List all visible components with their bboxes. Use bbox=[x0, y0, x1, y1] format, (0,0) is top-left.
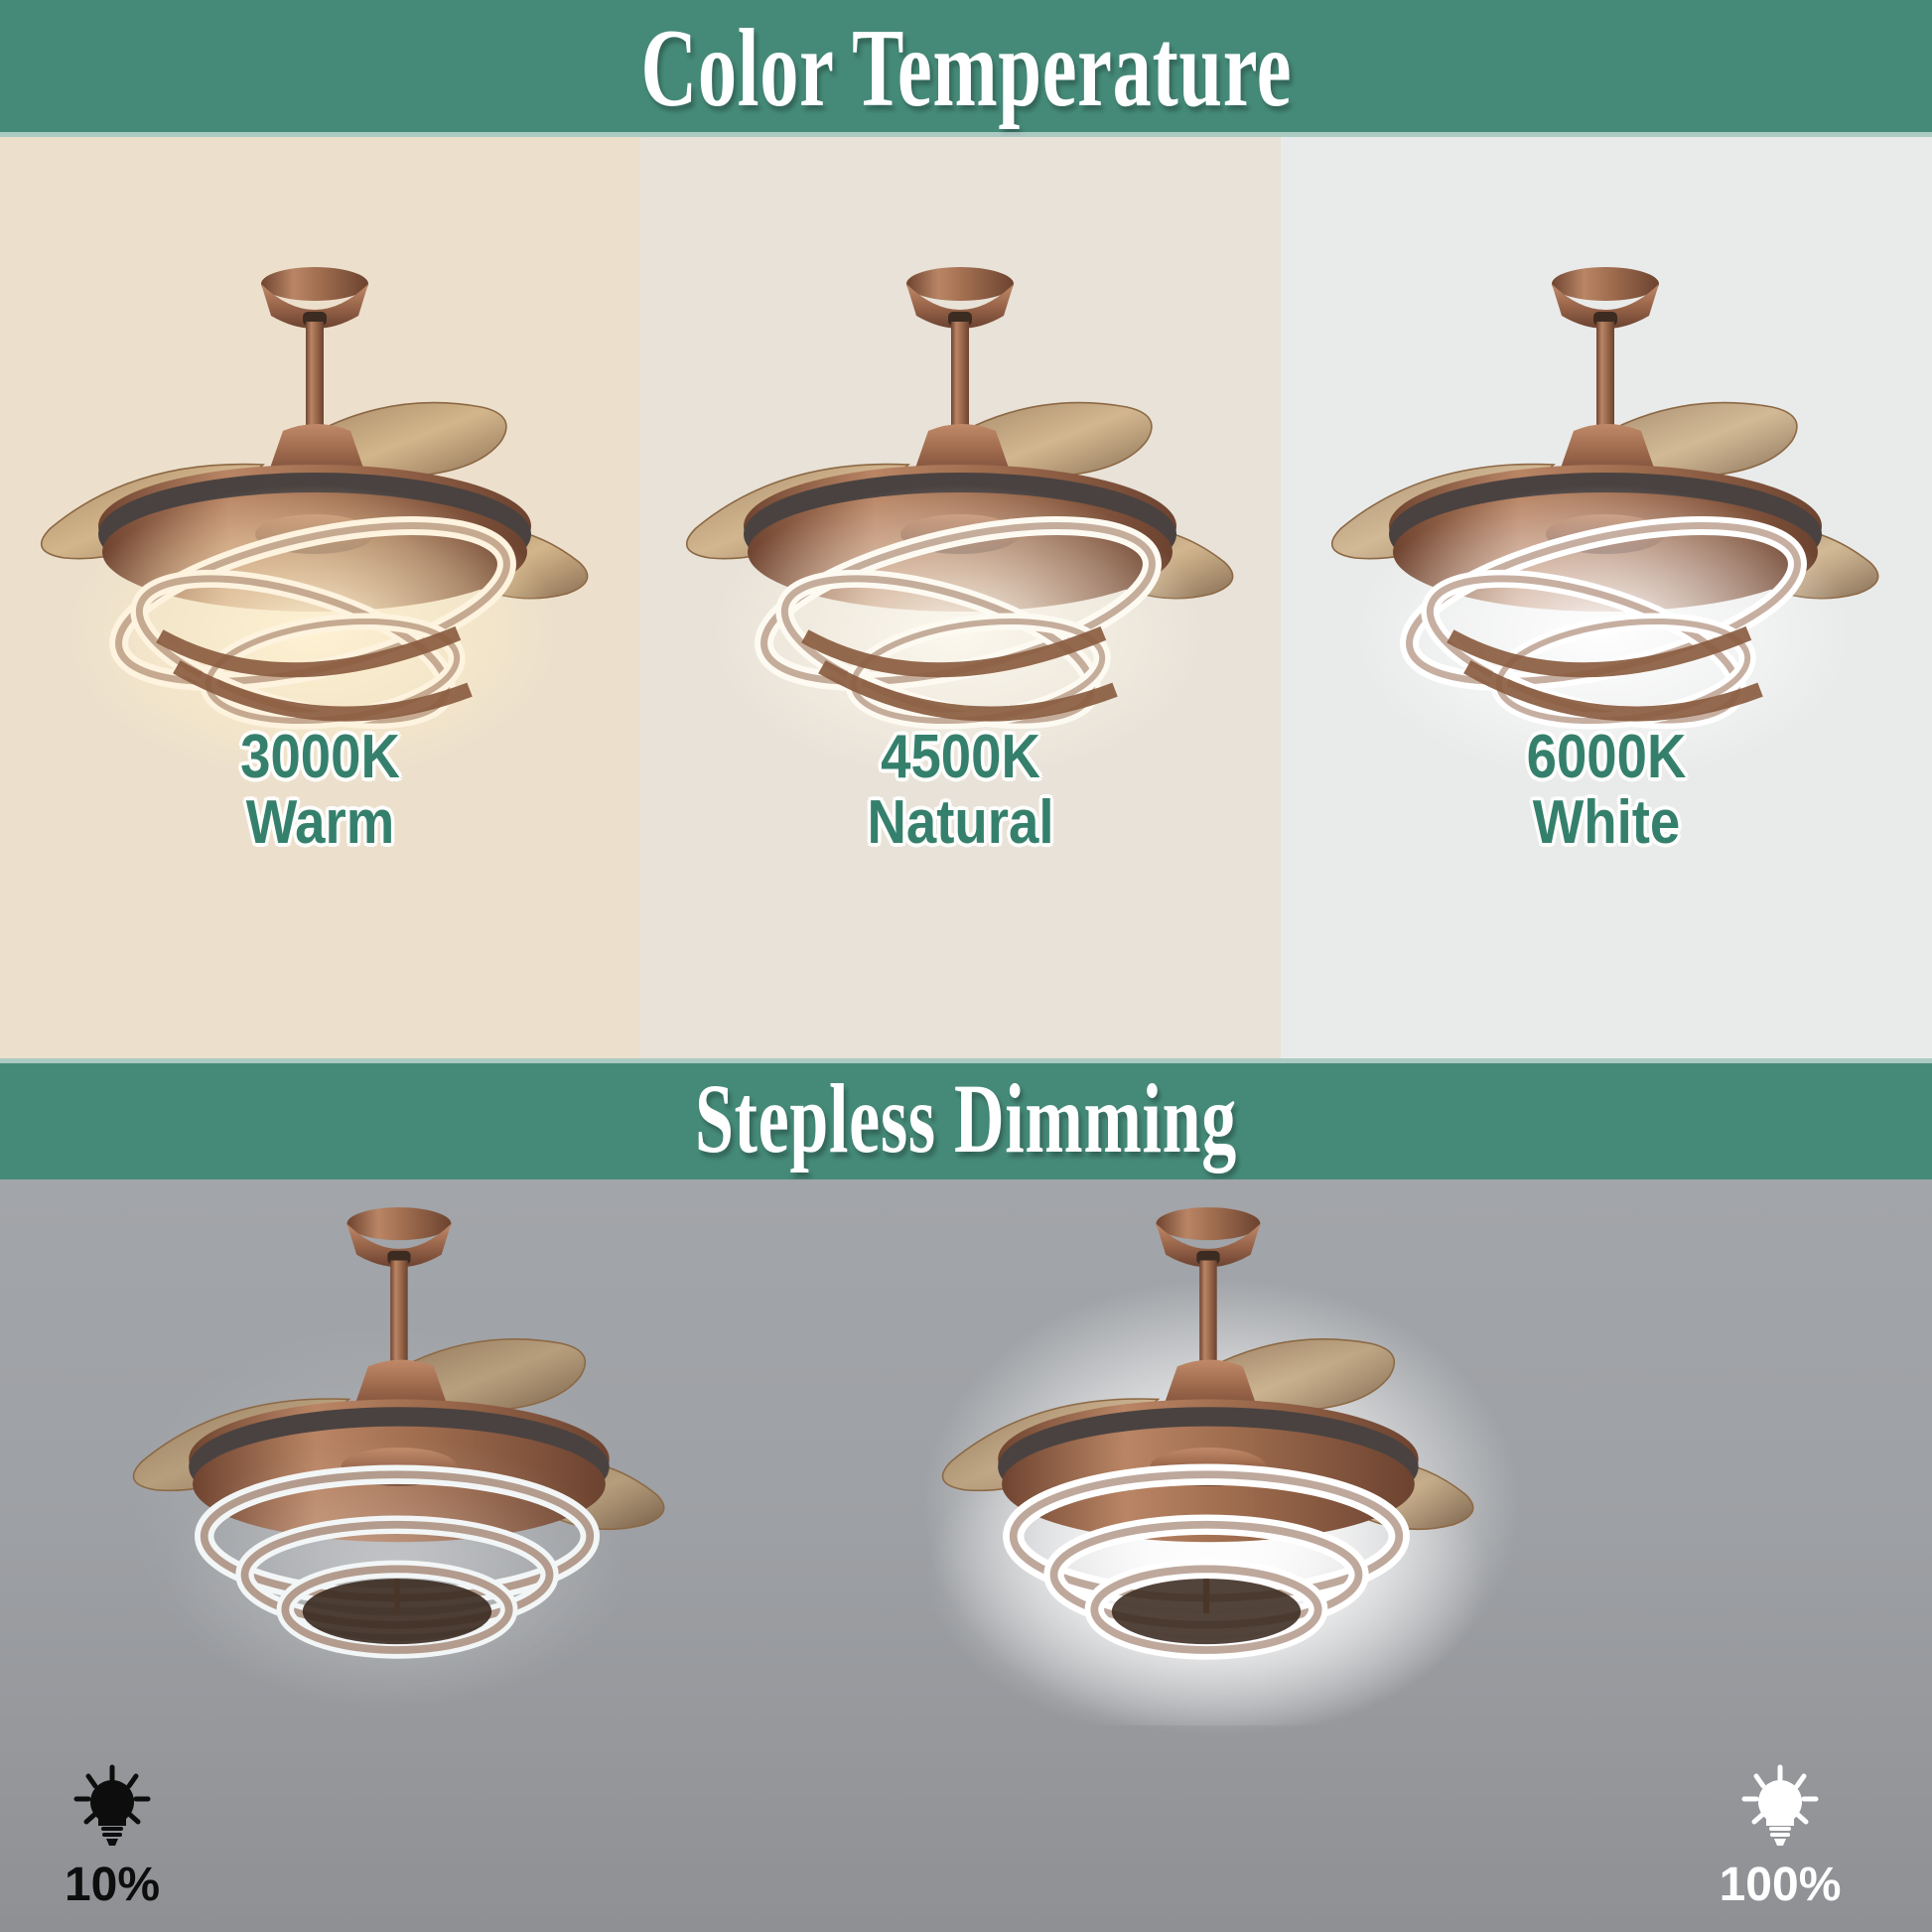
color-temperature-panel-6000k: 6000K White bbox=[1281, 137, 1932, 1058]
kelvin-name-3000k: Warm bbox=[39, 790, 603, 856]
kelvin-value-3000k: 3000K bbox=[39, 725, 603, 790]
color-temperature-panel-3000k: 3000K Warm bbox=[0, 137, 640, 1058]
ceiling-fan-image-6000k bbox=[1281, 236, 1932, 792]
kelvin-name-4500k: Natural bbox=[679, 790, 1243, 856]
color-temperature-label-4500k: 4500K Natural bbox=[640, 725, 1281, 856]
min-brightness-indicator: 10% bbox=[38, 1763, 187, 1911]
ceiling-fan-image-3000k bbox=[0, 236, 640, 792]
infographic-page: Color Temperature bbox=[0, 0, 1932, 1932]
ceiling-fan-image-bright bbox=[869, 1179, 1544, 1725]
color-temperature-title: Color Temperature bbox=[640, 13, 1292, 124]
kelvin-value-6000k: 6000K bbox=[1319, 725, 1892, 790]
dimming-slider-row[interactable]: 10% bbox=[0, 1727, 1932, 1932]
ceiling-fan-image-4500k bbox=[640, 236, 1281, 792]
color-temperature-banner: Color Temperature bbox=[0, 0, 1932, 137]
bulb-icon-bright bbox=[1734, 1763, 1826, 1849]
max-brightness-label: 100% bbox=[1706, 1860, 1855, 1911]
color-temperature-panel-4500k: 4500K Natural bbox=[640, 137, 1281, 1058]
stepless-dimming-title: Stepless Dimming bbox=[695, 1069, 1237, 1169]
stepless-dimming-banner: Stepless Dimming bbox=[0, 1058, 1932, 1179]
ceiling-fan-image-dim bbox=[60, 1179, 735, 1725]
min-brightness-label: 10% bbox=[38, 1860, 187, 1911]
max-brightness-indicator: 100% bbox=[1706, 1763, 1855, 1911]
color-temperature-label-3000k: 3000K Warm bbox=[0, 725, 640, 856]
bulb-icon-dim bbox=[67, 1763, 158, 1849]
kelvin-value-4500k: 4500K bbox=[679, 725, 1243, 790]
color-temperature-section: 3000K Warm bbox=[0, 137, 1932, 1058]
kelvin-name-6000k: White bbox=[1319, 790, 1892, 856]
color-temperature-label-6000k: 6000K White bbox=[1281, 725, 1932, 856]
banner-underline-top bbox=[0, 1058, 1932, 1063]
